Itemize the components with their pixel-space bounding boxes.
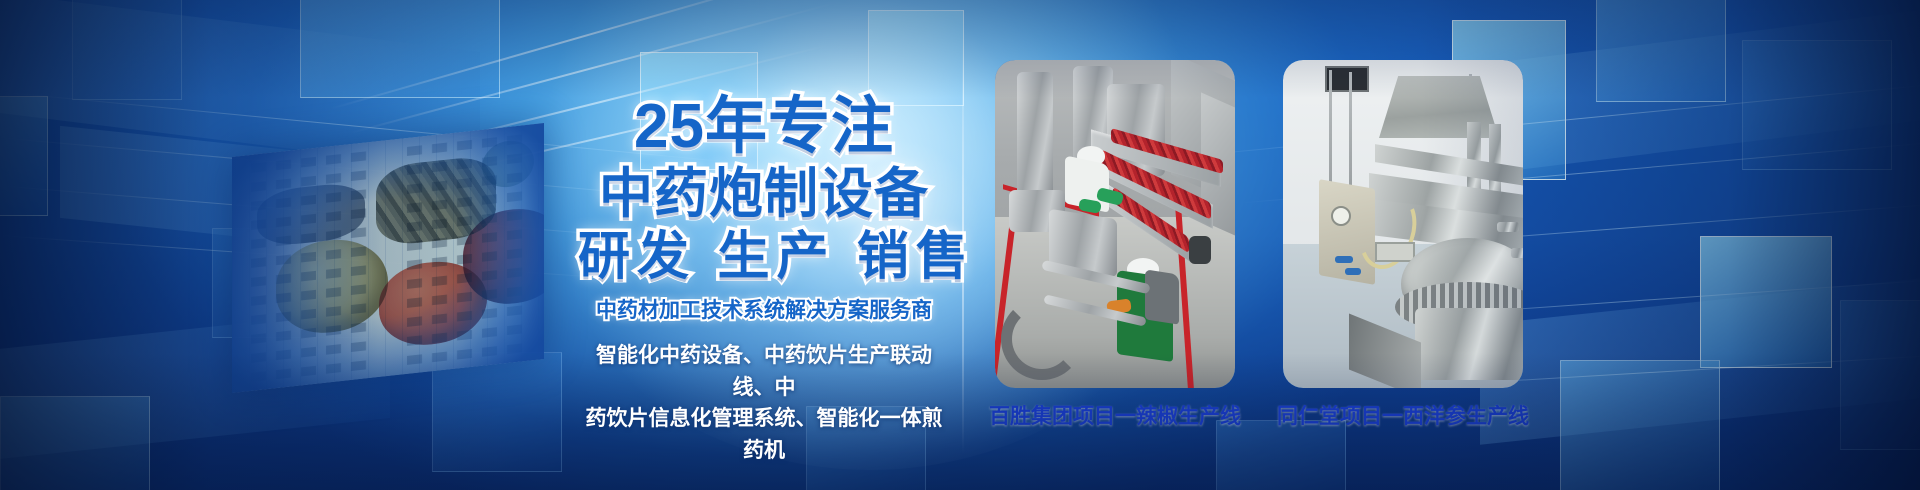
headline-line-2: 中药炮制设备 bbox=[578, 167, 950, 221]
promo-banner: 25年专注 中药炮制设备 研发 生产 销售 中药材加工技术系统解决方案服务商 智… bbox=[0, 0, 1920, 490]
headline-subtitle: 中药材加工技术系统解决方案服务商 bbox=[578, 294, 950, 324]
headline-line-3: 研发 生产 销售 bbox=[578, 231, 950, 283]
headline-body-line-2: 药饮片信息化管理系统、智能化一体煎药机 bbox=[578, 403, 950, 466]
headline-line-1: 25年专注 bbox=[578, 96, 950, 158]
headline-body: 智能化中药设备、中药饮片生产联动线、中 药饮片信息化管理系统、智能化一体煎药机 bbox=[578, 340, 950, 466]
headline-block: 25年专注 中药炮制设备 研发 生产 销售 中药材加工技术系统解决方案服务商 智… bbox=[578, 96, 950, 466]
headline-body-line-1: 智能化中药设备、中药饮片生产联动线、中 bbox=[578, 340, 950, 403]
